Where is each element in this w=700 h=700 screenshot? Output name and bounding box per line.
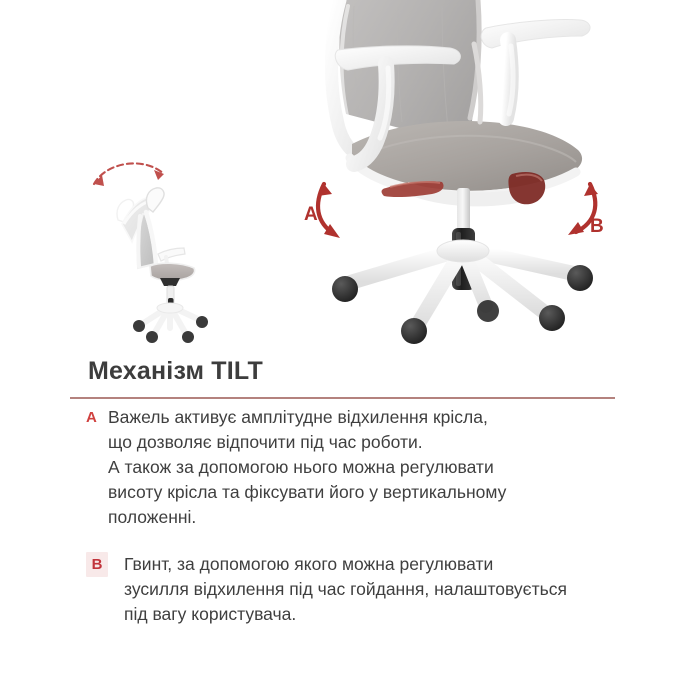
headrest [146, 188, 164, 212]
title-divider [70, 397, 615, 399]
small-chair-illustration [88, 158, 248, 318]
chair-base [142, 303, 200, 334]
small-chair-svg [88, 158, 248, 318]
page-title: Механізм TILT [88, 357, 263, 386]
callout-b-label: B [590, 216, 604, 237]
illustration-area: A B [0, 0, 700, 345]
list-item-text-a: Важель активує амплітудне відхилення крі… [92, 405, 670, 530]
list-item: A Важель активує амплітудне відхилення к… [70, 405, 670, 530]
main-chair-svg: A B [290, 6, 620, 341]
list-item-marker-b: B [86, 552, 108, 577]
armrest-right [474, 19, 590, 122]
tilt-mechanism-infographic: A B Механізм TILT A Важель активує амплі… [0, 0, 700, 700]
list-item: B Гвинт, за допомогою якого можна регулю… [70, 552, 670, 627]
callout-list: A Важель активує амплітудне відхилення к… [70, 405, 670, 649]
callout-a-arrow [318, 184, 340, 238]
backrest [138, 212, 156, 268]
seat [150, 263, 195, 280]
main-chair-illustration: A B [290, 6, 620, 336]
list-item-marker-a: A [70, 405, 92, 430]
list-item-text-b: Гвинт, за допомогою якого можна регулюва… [108, 552, 670, 627]
dashed-double-arc-arrow [94, 163, 164, 186]
callout-a-label: A [304, 204, 318, 225]
